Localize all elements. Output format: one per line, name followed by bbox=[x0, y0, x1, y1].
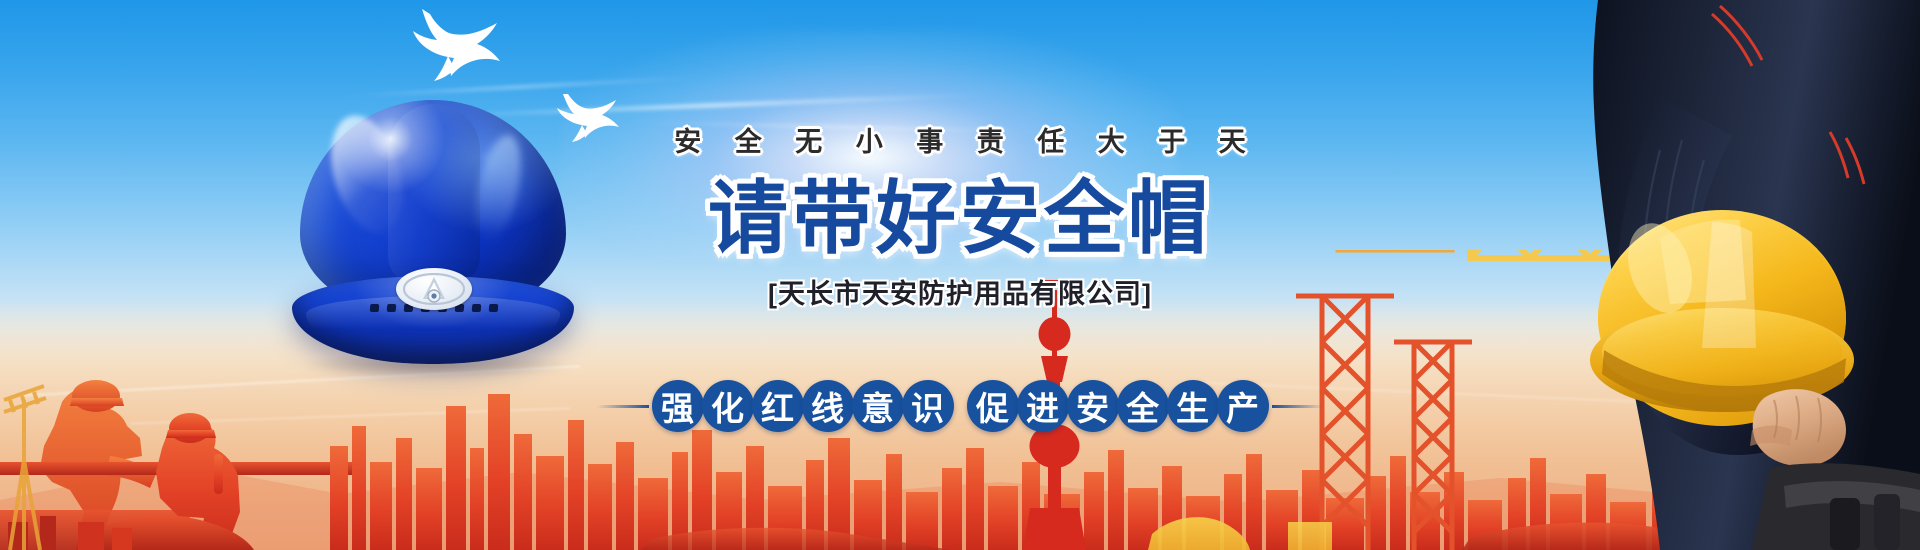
machinery bbox=[1288, 522, 1332, 550]
slogan-chip: 进 bbox=[1017, 380, 1069, 432]
dove-large-icon bbox=[404, 6, 514, 97]
safety-banner: 安 全 无 小 事 责 任 大 于 天 请带好安全帽 [天长市天安防护用品有限公… bbox=[0, 0, 1920, 550]
rule-left bbox=[597, 405, 649, 408]
slogan-chip: 生 bbox=[1167, 380, 1219, 432]
slogan-chips-left: 强化红线意识 bbox=[653, 380, 953, 432]
bottom-slogan: 强化红线意识 促进安全生产 bbox=[560, 380, 1360, 432]
top-slogan: 安 全 无 小 事 责 任 大 于 天 bbox=[600, 120, 1320, 159]
slogan-chip: 全 bbox=[1117, 380, 1169, 432]
slogan-chip: 意 bbox=[852, 380, 904, 432]
slogan-chip: 红 bbox=[752, 380, 804, 432]
slogan-chip: 产 bbox=[1217, 380, 1269, 432]
scaffold-post bbox=[40, 516, 56, 550]
slogan-chip: 线 bbox=[802, 380, 854, 432]
slogan-chip: 促 bbox=[967, 380, 1019, 432]
slogan-chip: 化 bbox=[702, 380, 754, 432]
headline: 请带好安全帽 bbox=[600, 177, 1320, 260]
brick bbox=[78, 522, 104, 550]
company-name: [天长市天安防护用品有限公司] bbox=[600, 272, 1320, 311]
slogan-chip: 强 bbox=[652, 380, 704, 432]
banner-text-block: 安 全 无 小 事 责 任 大 于 天 请带好安全帽 [天长市天安防护用品有限公… bbox=[600, 120, 1320, 311]
slogan-chip: 识 bbox=[902, 380, 954, 432]
tool bbox=[1874, 494, 1900, 550]
slogan-chip: 安 bbox=[1067, 380, 1119, 432]
tool bbox=[1830, 498, 1860, 550]
worker-holding-helmet bbox=[1360, 0, 1920, 550]
slogan-chips-right: 促进安全生产 bbox=[953, 380, 1268, 432]
brick bbox=[112, 528, 132, 550]
rule-right bbox=[1272, 405, 1324, 408]
